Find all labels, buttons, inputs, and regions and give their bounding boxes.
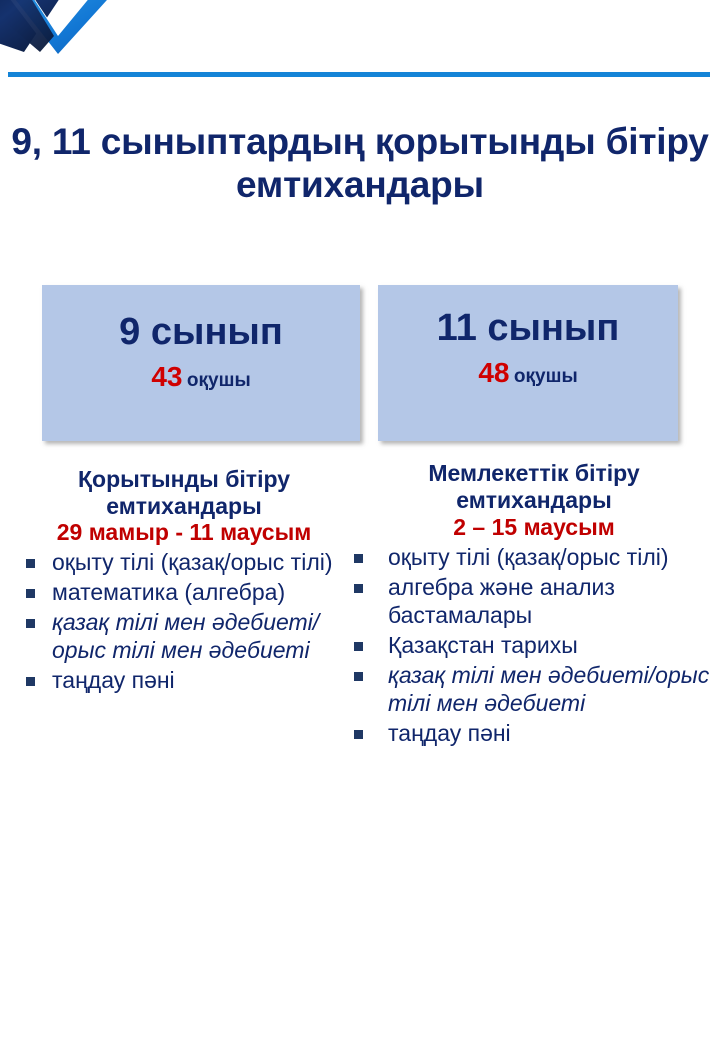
list-item: таңдау пәні [348,719,720,747]
list-item-text: таңдау пәні [52,667,175,693]
exam-column-grade11-list: оқыту тілі (қазақ/орыс тілі) алгебра жән… [348,543,720,747]
grade-card-9-unit: оқушы [187,370,251,391]
slide-root: 9, 11 сыныптардың қорытынды бітіру емтих… [0,0,720,1040]
exam-column-grade9-heading: Қорытынды бітіру емтихандары [8,466,360,519]
exam-column-grade11-heading: Мемлекеттік бітіру емтихандары [348,460,720,513]
list-item: Қазақстан тарихы [348,631,720,659]
list-item: оқыту тілі (қазақ/орыс тілі) [8,548,360,576]
bullet-square-icon [26,619,35,628]
grade-card-11-count: 48 [478,357,509,388]
list-item: алгебра және анализ бастамалары [348,573,720,629]
exam-column-grade9-list: оқыту тілі (қазақ/орыс тілі) математика … [8,548,360,694]
bullet-square-icon [354,584,363,593]
list-item-text: математика (алгебра) [52,579,285,605]
grade-card-9-label: 9 сынып [42,285,360,351]
list-item: математика (алгебра) [8,578,360,606]
list-item: таңдау пәні [8,666,360,694]
exam-column-grade9: Қорытынды бітіру емтихандары 29 мамыр - … [8,466,360,694]
list-item-text: Қазақстан тарихы [388,632,578,658]
list-item-text: алгебра және анализ бастамалары [388,574,615,628]
header-divider [8,72,710,77]
bullet-square-icon [26,559,35,568]
list-item-text: қазақ тілі мен әдебиеті/орыс тілі мен әд… [388,662,709,716]
exam-column-grade11: Мемлекеттік бітіру емтихандары 2 – 15 ма… [348,460,720,747]
list-item-text: оқыту тілі (қазақ/орыс тілі) [388,544,669,570]
chevron-logo-icon [0,0,128,62]
list-item: қазақ тілі мен әдебиеті/орыс тілі мен әд… [348,661,720,717]
bullet-square-icon [354,730,363,739]
exam-column-grade9-dates: 29 мамыр - 11 маусым [8,519,360,546]
bullet-square-icon [354,642,363,651]
list-item-text: таңдау пәні [388,720,511,746]
list-item-text: оқыту тілі (қазақ/орыс тілі) [52,549,333,575]
grade-card-11-unit: оқушы [514,366,578,387]
page-title: 9, 11 сыныптардың қорытынды бітіру емтих… [8,120,712,207]
list-item: оқыту тілі (қазақ/орыс тілі) [348,543,720,571]
grade-card-9-count-line: 43 оқушы [42,363,360,391]
grade-card-11-count-line: 48 оқушы [378,359,678,387]
grade-card-9-count: 43 [151,361,182,392]
list-item: қазақ тілі мен әдебиеті/орыс тілі мен әд… [8,608,360,664]
list-item-text: қазақ тілі мен әдебиеті/орыс тілі мен әд… [52,609,319,663]
exam-column-grade11-dates: 2 – 15 маусым [348,514,720,541]
bullet-square-icon [354,554,363,563]
grade-card-11: 11 сынып 48 оқушы [378,285,678,441]
bullet-square-icon [26,677,35,686]
grade-card-9: 9 сынып 43 оқушы [42,285,360,441]
bullet-square-icon [26,589,35,598]
bullet-square-icon [354,672,363,681]
grade-card-11-label: 11 сынып [378,285,678,347]
